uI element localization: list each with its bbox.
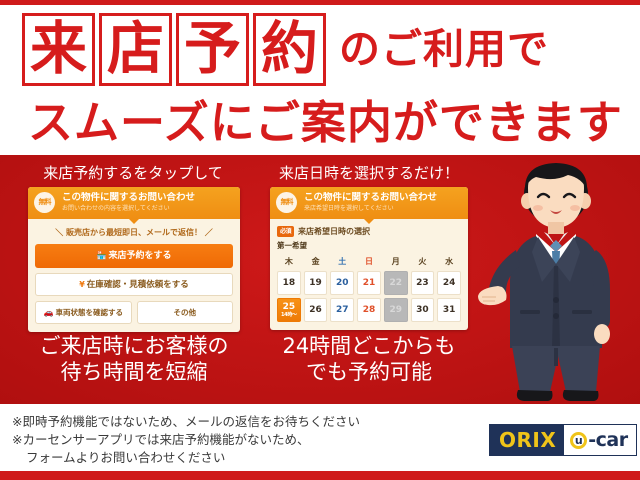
calendar-day-number: 21	[363, 278, 376, 288]
banner-root: 来 店 予 約 のご利用で スムーズにご案内ができます 来店予約するをタップして…	[0, 0, 640, 480]
red-feature-band: 来店予約するをタップして 無料 この物件に関するお問い合わせ お問い合わせの内容…	[0, 155, 640, 404]
bottom-stripe	[0, 471, 640, 480]
calendar-day-26[interactable]: 26	[304, 298, 328, 322]
calendar-day-21[interactable]: 21	[357, 271, 381, 295]
mockup-left-header-text: この物件に関するお問い合わせ お問い合わせの内容を選択してください	[62, 192, 234, 213]
reserve-visit-button[interactable]: 🏪来店予約をする	[35, 244, 233, 268]
reserve-visit-button-label: 来店予約をする	[108, 251, 171, 261]
calendar-day-29: 29	[384, 298, 408, 322]
headline-row-2: スムーズにご案内ができます	[28, 97, 623, 149]
car-icon: 🚗	[44, 308, 54, 317]
calendar-day-number: 29	[389, 305, 402, 315]
headline-row-1: 来 店 予 約 のご利用で	[22, 13, 549, 86]
panel-left: 来店予約するをタップして	[24, 163, 242, 183]
logo-ucar-group: u -car	[564, 425, 635, 455]
calendar-day-number: 22	[389, 278, 402, 288]
calendar-day-25[interactable]: 2514時〜	[277, 298, 301, 322]
mockup-inquiry-form: 無料 この物件に関するお問い合わせ お問い合わせの内容を選択してください ＼ 販…	[28, 187, 240, 332]
calendar-day-number: 31	[443, 305, 456, 315]
calendar-day-23[interactable]: 23	[411, 271, 435, 295]
calendar-day-20[interactable]: 20	[330, 271, 354, 295]
yen-icon: ¥	[79, 280, 85, 289]
other-button[interactable]: その他	[137, 301, 234, 324]
calendar-section-label: 来店希望日時の選択	[298, 226, 370, 237]
mockup-right-header-text: この物件に関するお問い合わせ 来店希望日時を選択してください	[304, 192, 462, 213]
calendar-day-number: 25	[283, 302, 296, 312]
calendar-day-grid[interactable]: 181920212223242514時〜262728293031	[277, 271, 461, 322]
mockup-right-body: 必須 来店希望日時の選択 第一希望 木金土日月火水 18192021222324…	[270, 219, 468, 330]
preference-label: 第一希望	[277, 240, 461, 251]
calendar-day-number: 30	[416, 305, 429, 315]
calendar-day-number: 28	[363, 305, 376, 315]
calendar-day-number: 23	[416, 278, 429, 288]
calendar-day-24[interactable]: 24	[437, 271, 461, 295]
mockup-right-notch	[364, 219, 374, 224]
mockup-left-header-subtitle: お問い合わせの内容を選択してください	[62, 204, 234, 213]
headline-section: 来 店 予 約 のご利用で スムーズにご案内ができます	[0, 5, 640, 155]
logo-car-text: -car	[588, 429, 627, 451]
stock-quote-button-label: 在庫確認・見積依頼をする	[87, 280, 189, 290]
calendar-day-number: 27	[336, 305, 349, 315]
caption-right-line-2: でも予約可能	[258, 359, 480, 385]
calendar-day-28[interactable]: 28	[357, 298, 381, 322]
calendar-day-30[interactable]: 30	[411, 298, 435, 322]
calendar-weekday-金: 金	[304, 255, 328, 268]
headline-kanji-box-2: 店	[99, 13, 172, 86]
calendar-weekday-日: 日	[357, 255, 381, 268]
mockup-right-header: 無料 この物件に関するお問い合わせ 来店希望日時を選択してください	[270, 187, 468, 219]
store-icon: 🏪	[97, 251, 107, 260]
calendar-day-22: 22	[384, 271, 408, 295]
calendar-day-number: 26	[309, 305, 322, 315]
mockup-left-header-title: この物件に関するお問い合わせ	[62, 192, 234, 204]
mockup-left-header: 無料 この物件に関するお問い合わせ お問い合わせの内容を選択してください	[28, 187, 240, 219]
mockup-left-button-row: 🚗車両状態を確認する その他	[35, 301, 233, 324]
headline-kanji-box-1: 来	[22, 13, 95, 86]
caption-left-line-2: 待ち時間を短縮	[10, 359, 258, 385]
headline-tail-text: のご利用で	[339, 13, 549, 86]
mockup-calendar-form: 無料 この物件に関するお問い合わせ 来店希望日時を選択してください 必須 来店希…	[270, 187, 468, 330]
calendar-day-number: 19	[309, 278, 322, 288]
calendar-day-18[interactable]: 18	[277, 271, 301, 295]
calendar-day-19[interactable]: 19	[304, 271, 328, 295]
required-badge: 必須	[277, 226, 294, 237]
disclaimer-line-2: ※カーセンサーアプリでは来店予約機能がないため、	[12, 431, 360, 449]
calendar-day-number: 18	[283, 278, 296, 288]
mockup-left-notch	[129, 219, 139, 224]
calendar-day-27[interactable]: 27	[330, 298, 354, 322]
calendar-day-time: 14時〜	[281, 312, 297, 318]
orix-ucar-logo: ORIX u -car	[489, 424, 637, 456]
calendar-weekday-木: 木	[277, 255, 301, 268]
free-badge: 無料	[276, 192, 297, 213]
caption-left-line-1: ご来店時にお客様の	[10, 333, 258, 359]
mockup-right-header-title: この物件に関するお問い合わせ	[304, 192, 462, 204]
logo-u-mark: u	[570, 432, 587, 449]
panel-right-title: 来店日時を選択するだけ！	[266, 163, 472, 183]
panel-left-title: 来店予約するをタップして	[24, 163, 242, 183]
headline-kanji-box-4: 約	[253, 13, 326, 86]
vehicle-condition-button-label: 車両状態を確認する	[55, 308, 123, 317]
logo-orix-text: ORIX	[490, 425, 564, 455]
stock-quote-button[interactable]: ¥在庫確認・見積依頼をする	[35, 273, 233, 296]
calendar-day-31[interactable]: 31	[437, 298, 461, 322]
free-badge: 無料	[34, 192, 55, 213]
calendar-weekday-月: 月	[384, 255, 408, 268]
calendar-weekday-水: 水	[437, 255, 461, 268]
disclaimer-line-1: ※即時予約機能ではないため、メールの返信をお待ちください	[12, 413, 360, 431]
mockup-left-body: ＼ 販売店から最短即日、メールで返信！ ／ 🏪来店予約をする ¥在庫確認・見積依…	[28, 219, 240, 332]
mockup-right-header-subtitle: 来店希望日時を選択してください	[304, 204, 462, 213]
disclaimer-line-3: フォームよりお問い合わせください	[12, 449, 360, 467]
vehicle-condition-button[interactable]: 🚗車両状態を確認する	[35, 301, 132, 324]
disclaimer-block: ※即時予約機能ではないため、メールの返信をお待ちください ※カーセンサーアプリで…	[12, 413, 360, 467]
calendar-weekday-火: 火	[411, 255, 435, 268]
calendar-section-label-row: 必須 来店希望日時の選択	[277, 226, 461, 237]
headline-kanji-box-3: 予	[176, 13, 249, 86]
calendar-weekday-土: 土	[330, 255, 354, 268]
calendar-day-number: 20	[336, 278, 349, 288]
calendar-day-number: 24	[443, 278, 456, 288]
caption-right-line-1: 24時間どこからも	[258, 333, 480, 359]
panel-right: 来店日時を選択するだけ！	[266, 163, 472, 183]
calendar-weekday-header: 木金土日月火水	[277, 255, 461, 268]
reply-promise-text: ＼ 販売店から最短即日、メールで返信！ ／	[35, 226, 233, 239]
salesman-illustration	[476, 160, 636, 404]
